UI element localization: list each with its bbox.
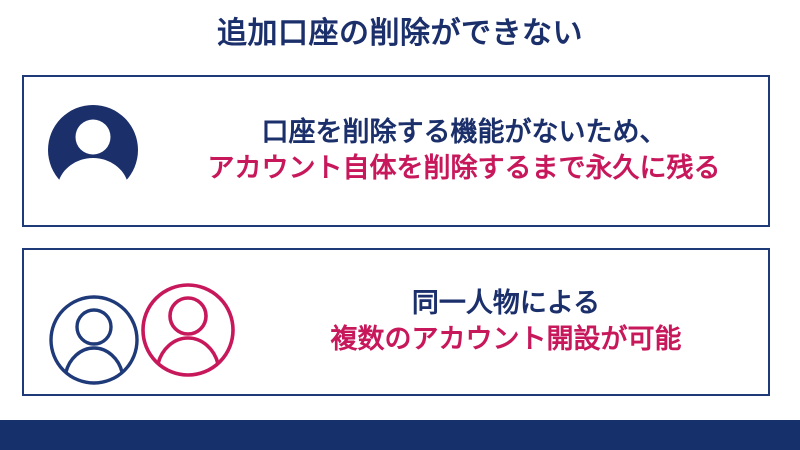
footer-bar [0,420,800,450]
user-outline-navy-icon [51,297,137,383]
panel-2-text: 同一人物による 複数のアカウント開設が可能 [254,286,758,358]
panel-2-line-2: 複数のアカウント開設が可能 [254,322,758,358]
two-users-outline-icon [36,266,252,386]
panel-1-line-1: 口座を削除する機能がないため、 [164,115,764,151]
page-title: 追加口座の削除ができない [0,16,800,52]
panel-1-text: 口座を削除する機能がないため、 アカウント自体を削除するまで永久に残る [164,115,764,187]
panel-1-line-2: アカウント自体を削除するまで永久に残る [164,151,764,187]
user-outline-crimson-icon [142,284,235,377]
info-panel-account-deletion: 口座を削除する機能がないため、 アカウント自体を削除するまで永久に残る [22,75,770,227]
user-filled-icon [48,103,138,197]
info-panel-multiple-accounts: 同一人物による 複数のアカウント開設が可能 [22,248,770,396]
panel-2-line-1: 同一人物による [254,286,758,322]
